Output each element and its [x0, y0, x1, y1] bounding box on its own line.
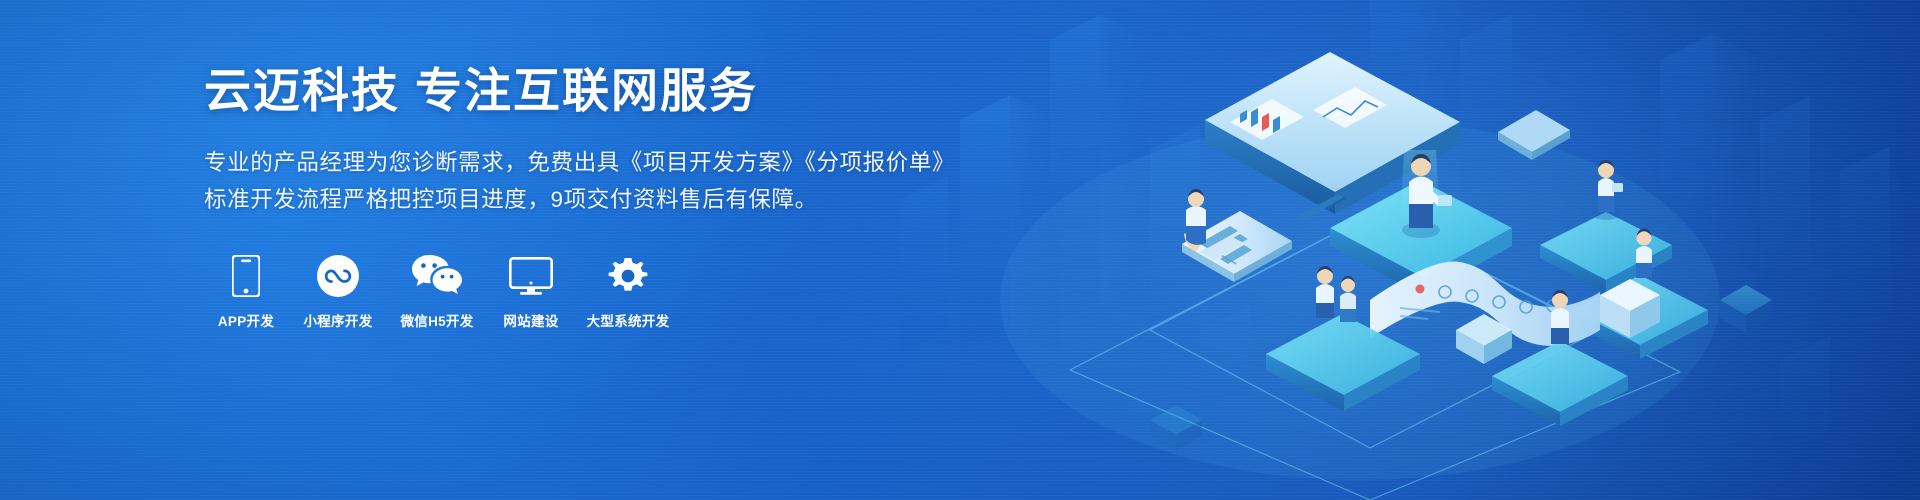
service-label-wechat: 微信H5开发: [394, 310, 480, 330]
service-label-system: 大型系统开发: [582, 310, 674, 330]
page-title: 云迈科技 专注互联网服务: [204, 62, 1104, 119]
subtitle-line-2: 标准开发流程严格把控项目进度，9项交付资料售后有保障。: [204, 182, 1104, 219]
service-label-app: APP开发: [210, 310, 282, 330]
monitor-icon: [494, 251, 568, 297]
service-list: APP开发 小程序开发: [210, 251, 1104, 330]
subtitle-line-1: 专业的产品经理为您诊断需求，免费出具《项目开发方案》《分项报价单》: [204, 145, 1104, 182]
promo-banner: 云迈科技 专注互联网服务 专业的产品经理为您诊断需求，免费出具《项目开发方案》《…: [0, 0, 1920, 500]
wechat-icon: [394, 251, 480, 297]
service-item-wechat[interactable]: 微信H5开发: [394, 251, 480, 330]
mobile-phone-icon: [210, 251, 282, 297]
service-label-website: 网站建设: [494, 310, 568, 330]
mini-program-icon: [296, 251, 380, 297]
service-item-miniprogram[interactable]: 小程序开发: [296, 251, 380, 330]
gear-icon: [582, 251, 674, 297]
service-item-website[interactable]: 网站建设: [494, 251, 568, 330]
service-item-system[interactable]: 大型系统开发: [582, 251, 674, 330]
service-label-miniprogram: 小程序开发: [296, 310, 380, 330]
subtitle-block: 专业的产品经理为您诊断需求，免费出具《项目开发方案》《分项报价单》 标准开发流程…: [204, 145, 1104, 219]
service-item-app[interactable]: APP开发: [210, 251, 282, 330]
banner-copy: 云迈科技 专注互联网服务 专业的产品经理为您诊断需求，免费出具《项目开发方案》《…: [204, 62, 1104, 330]
